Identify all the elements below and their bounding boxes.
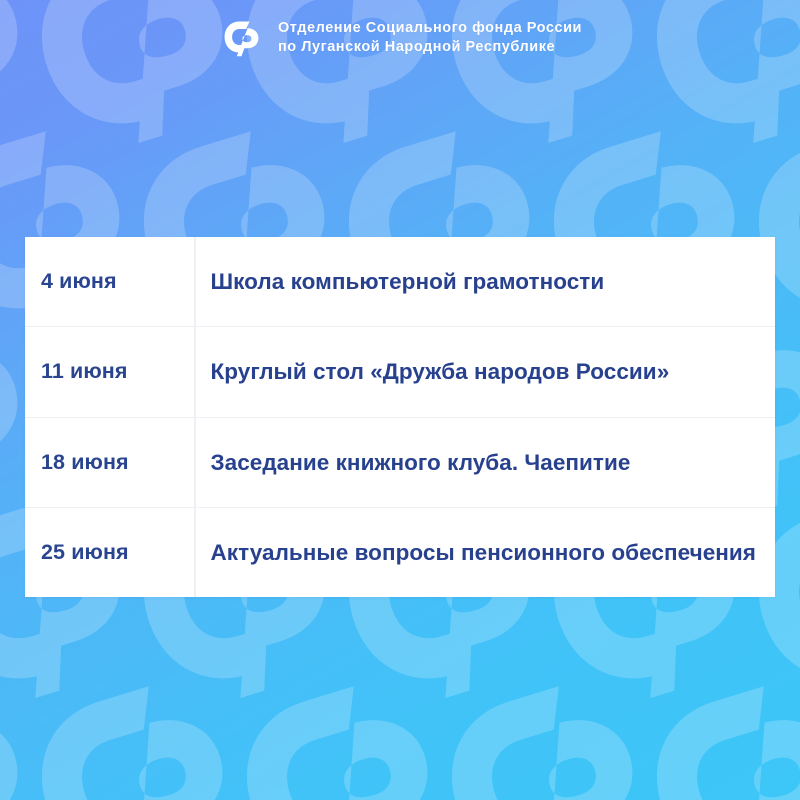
watermark-logo-icon <box>0 624 84 800</box>
brand-line-2: по Луганской Народной Республике <box>278 38 582 56</box>
watermark-logo-icon <box>181 624 493 800</box>
watermark-logo-icon <box>0 624 289 800</box>
schedule-row-date: 18 июня <box>25 450 194 475</box>
poster-canvas: Отделение Социального фонда России по Лу… <box>0 0 800 800</box>
schedule-row-title: Заседание книжного клуба. Чаепитие <box>196 448 776 477</box>
brand-title-block: Отделение Социального фонда России по Лу… <box>278 19 582 56</box>
schedule-row-title: Актуальные вопросы пенсионного обеспечен… <box>196 538 776 567</box>
watermark-logo-icon <box>386 624 698 800</box>
schedule-row-date: 11 июня <box>25 359 194 384</box>
schedule-row: 4 июняШкола компьютерной грамотности <box>25 237 775 327</box>
watermark-logo-icon <box>796 624 800 800</box>
watermark-logo-icon <box>796 254 800 566</box>
schedule-row: 25 июняАктуальные вопросы пенсионного об… <box>25 508 775 597</box>
brand-header: Отделение Социального фонда России по Лу… <box>0 0 800 74</box>
sfr-monogram-logo-icon <box>218 14 265 61</box>
schedule-row-title: Школа компьютерной грамотности <box>196 267 776 296</box>
watermark-logo-icon <box>591 624 800 800</box>
schedule-row-date: 25 июня <box>25 540 194 565</box>
schedule-row: 18 июняЗаседание книжного клуба. Чаепити… <box>25 418 775 508</box>
brand-line-1: Отделение Социального фонда России <box>278 19 582 37</box>
schedule-row: 11 июняКруглый стол «Дружба народов Росс… <box>25 327 775 417</box>
schedule-row-title: Круглый стол «Дружба народов России» <box>196 357 776 386</box>
schedule-card: 4 июняШкола компьютерной грамотности11 и… <box>25 237 775 597</box>
schedule-row-date: 4 июня <box>25 269 194 294</box>
